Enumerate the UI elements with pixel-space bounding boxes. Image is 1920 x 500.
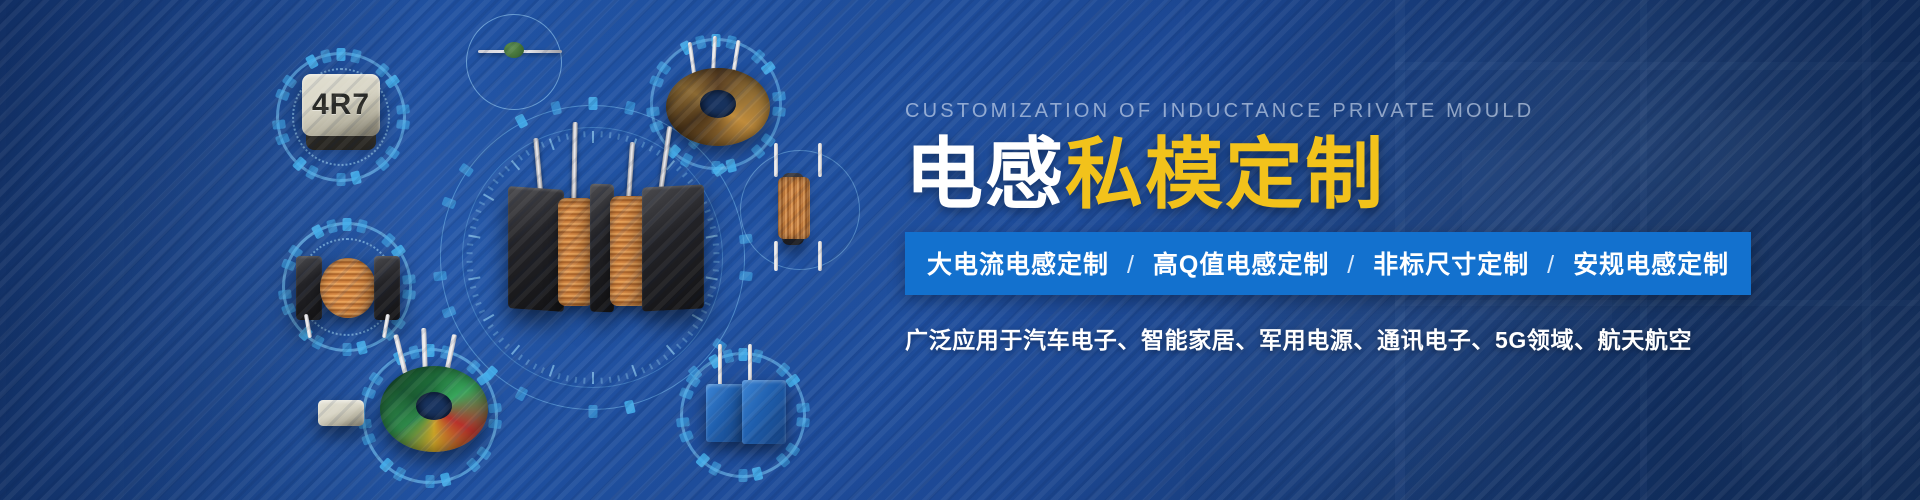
feature-item-1[interactable]: 大电流电感定制 [927,251,1109,279]
banner-eyebrow: CUSTOMIZATION OF INDUCTANCE PRIVATE MOUL… [905,100,1765,123]
feature-separator-2: / [1337,251,1365,279]
headline-white-part: 电感 [905,130,1065,220]
feature-item-3[interactable]: 非标尺寸定制 [1373,251,1529,279]
feature-separator-1: / [1117,251,1145,279]
headline-yellow-part: 私模定制 [1065,130,1385,220]
banner-headline: 电感私模定制 [905,135,1765,216]
banner-content: CUSTOMIZATION OF INDUCTANCE PRIVATE MOUL… [905,100,1765,355]
inductance-banner: 4R7 [0,0,1920,500]
banner-subline: 广泛应用于汽车电子、智能家居、军用电源、通讯电子、5G领域、航天航空 [905,321,1765,355]
feature-item-2[interactable]: 高Q值电感定制 [1153,251,1329,279]
feature-item-4[interactable]: 安规电感定制 [1573,251,1729,279]
feature-bar[interactable]: 大电流电感定制 / 高Q值电感定制 / 非标尺寸定制 / 安规电感定制 [905,232,1751,295]
feature-separator-3: / [1537,251,1565,279]
